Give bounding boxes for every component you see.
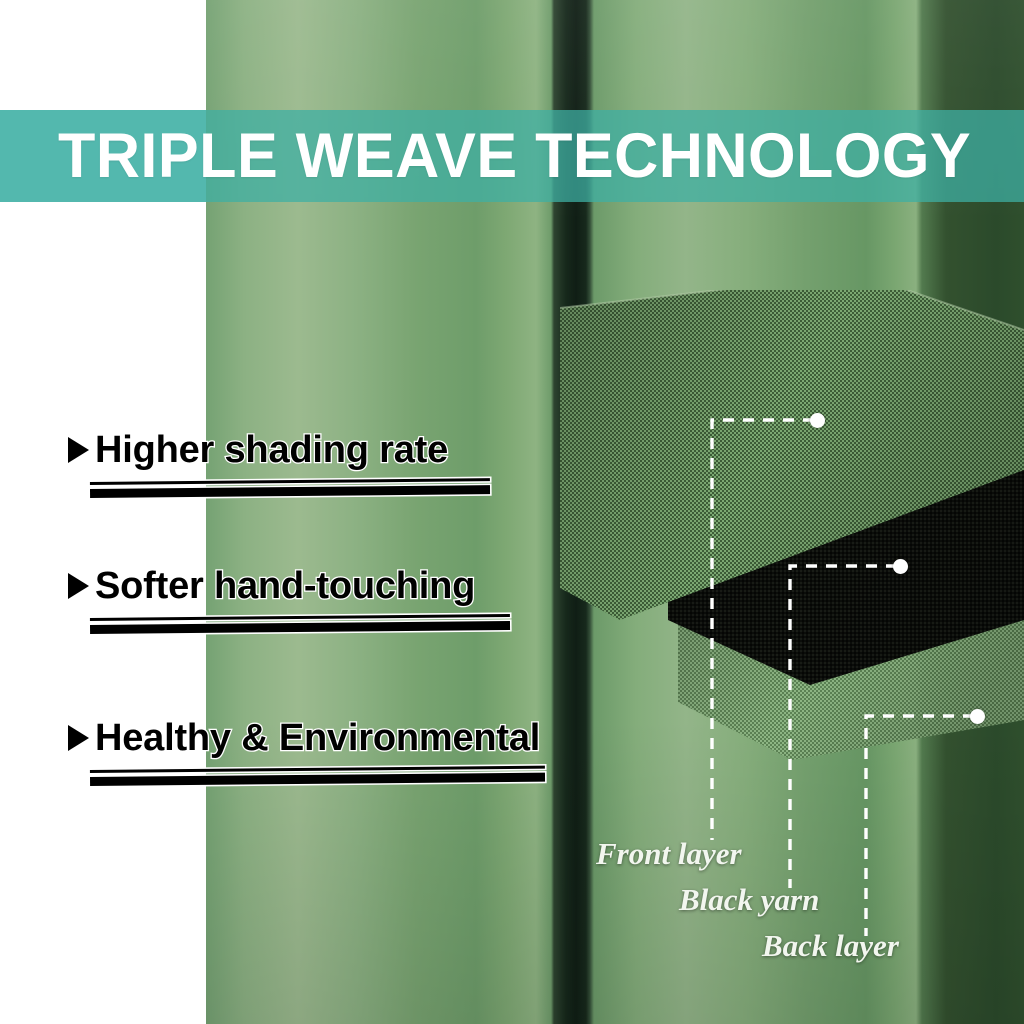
diagram-label-black-yarn: Black yarn [679,882,819,918]
diagram-label-front-layer: Front layer [596,836,742,872]
product-infographic: TRIPLE WEAVE TECHNOLOGY Higher shading r… [0,0,1024,1024]
callout-leader-lines [0,0,1024,1024]
callout-dot-front-layer [810,413,825,428]
diagram-label-back-layer: Back layer [762,928,899,964]
leader-black-yarn [790,566,897,888]
callout-dot-black-yarn [893,559,908,574]
leader-back-layer [866,716,974,936]
callout-dot-back-layer [970,709,985,724]
leader-front-layer [712,420,814,840]
